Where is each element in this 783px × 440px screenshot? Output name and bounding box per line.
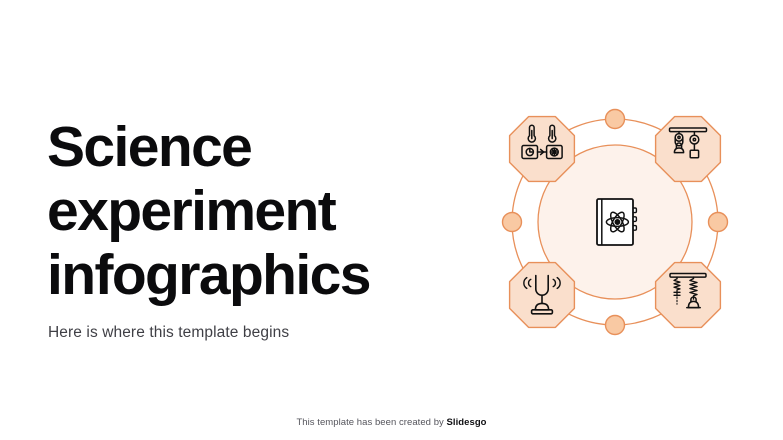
ring-dot-icon bbox=[606, 110, 625, 129]
node-badge-bottom-left[interactable] bbox=[510, 263, 575, 328]
title-block: Science experiment infographics Here is … bbox=[47, 116, 447, 342]
octagon-frame bbox=[656, 117, 721, 182]
page-title: Science experiment infographics bbox=[47, 116, 447, 307]
slide-canvas: Science experiment infographics Here is … bbox=[0, 0, 783, 440]
ring-dot-icon bbox=[606, 316, 625, 335]
slidesgo-brand: Slidesgo bbox=[447, 417, 487, 428]
octagon-frame bbox=[510, 117, 575, 182]
infographic-diagram bbox=[481, 88, 749, 356]
footer-credit: This template has been created by Slides… bbox=[0, 417, 783, 428]
node-badge-top-right[interactable] bbox=[656, 117, 721, 182]
ring-dot-icon bbox=[503, 213, 522, 232]
center-science-book-atom-icon bbox=[597, 199, 636, 245]
node-badge-top-left[interactable] bbox=[510, 117, 575, 182]
footer-text: This template has been created by bbox=[296, 417, 443, 428]
ring-dot-icon bbox=[709, 213, 728, 232]
page-subtitle: Here is where this template begins bbox=[48, 324, 447, 342]
octagon-frame bbox=[656, 263, 721, 328]
node-badge-bottom-right[interactable] bbox=[656, 263, 721, 328]
